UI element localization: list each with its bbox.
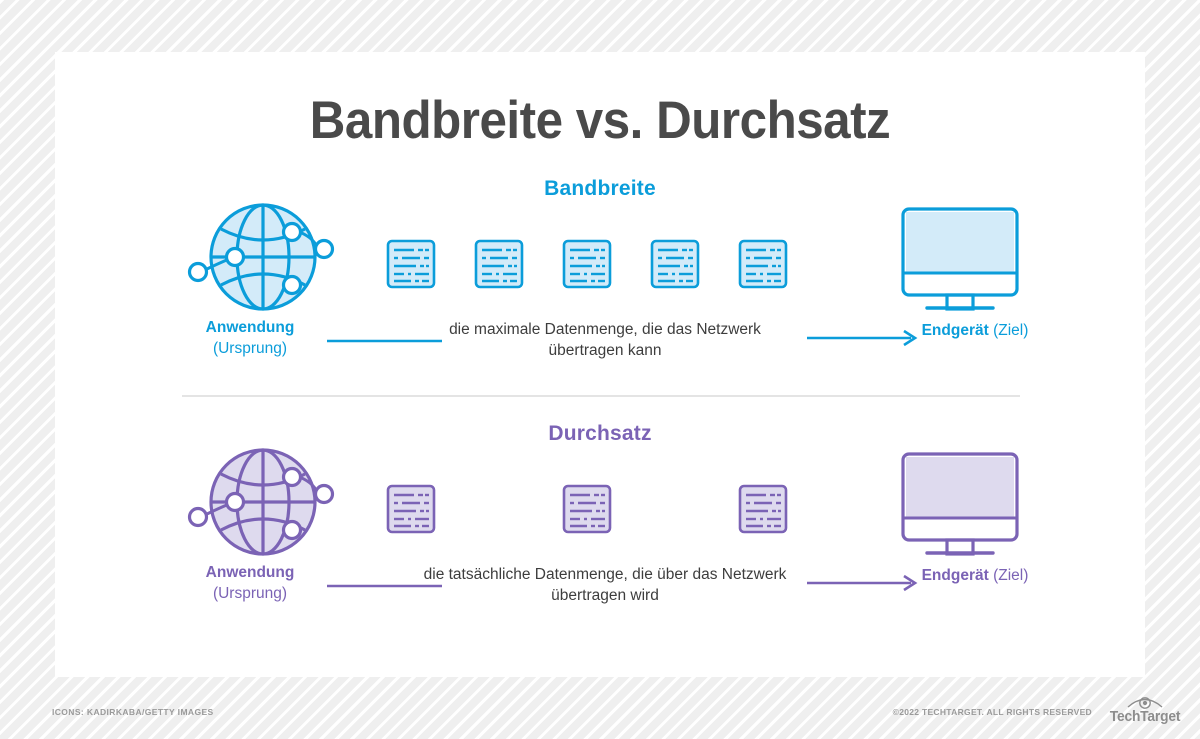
infographic-card: Bandbreite vs. Durchsatz Bandbreite [55, 52, 1145, 677]
destination-label: Endgerät (Ziel) [865, 322, 1085, 340]
destination-label-bold: Endgerät [922, 322, 989, 339]
source-label-bold: Anwendung [206, 564, 295, 581]
source-label-bold: Anwendung [206, 319, 295, 336]
data-packet-icon [561, 235, 613, 298]
source-label: Anwendung (Ursprung) [160, 317, 340, 359]
techtarget-logo: TechTarget [1102, 694, 1188, 725]
globe-network-icon [185, 444, 335, 565]
section-heading-durchsatz: Durchsatz [55, 422, 1145, 446]
desktop-monitor-icon [895, 448, 1025, 563]
page-title: Bandbreite vs. Durchsatz [93, 90, 1107, 151]
section-divider [182, 395, 1020, 397]
data-packet-icon [385, 480, 437, 543]
data-packet-icon [385, 235, 437, 298]
durchsatz-caption: die tatsächliche Datenmenge, die über da… [415, 564, 795, 606]
destination-label-regular: (Ziel) [993, 567, 1028, 584]
source-label: Anwendung (Ursprung) [160, 562, 340, 604]
data-packet-icon [649, 235, 701, 298]
source-label-regular: (Ursprung) [213, 340, 287, 357]
destination-label: Endgerät (Ziel) [865, 567, 1085, 585]
section-bandbreite: Bandbreite [55, 177, 1145, 201]
bandbreite-packet-group [385, 235, 835, 293]
globe-network-icon [185, 199, 335, 320]
destination-label-regular: (Ziel) [993, 322, 1028, 339]
durchsatz-packet-group [385, 480, 835, 538]
desktop-monitor-icon [895, 203, 1025, 318]
icon-credit: ICONS: KADIRKABA/GETTY IMAGES [52, 707, 214, 717]
section-heading-bandbreite: Bandbreite [55, 177, 1145, 201]
durchsatz-icon-row [55, 452, 1145, 562]
section-durchsatz: Durchsatz [55, 422, 1145, 446]
data-packet-icon [737, 235, 789, 298]
data-packet-icon [737, 480, 789, 543]
techtarget-wordmark: TechTarget [1105, 708, 1184, 725]
source-label-regular: (Ursprung) [213, 585, 287, 602]
data-packet-icon [561, 480, 613, 543]
destination-label-bold: Endgerät [922, 567, 989, 584]
bandbreite-label-row: Anwendung (Ursprung) die maximale Datenm… [55, 317, 1145, 377]
data-packet-icon [473, 235, 525, 298]
copyright-notice: ©2022 TECHTARGET. ALL RIGHTS RESERVED [893, 707, 1092, 717]
bandbreite-icon-row [55, 207, 1145, 317]
durchsatz-label-row: Anwendung (Ursprung) die tatsächliche Da… [55, 562, 1145, 622]
bandbreite-caption: die maximale Datenmenge, die das Netzwer… [415, 319, 795, 361]
